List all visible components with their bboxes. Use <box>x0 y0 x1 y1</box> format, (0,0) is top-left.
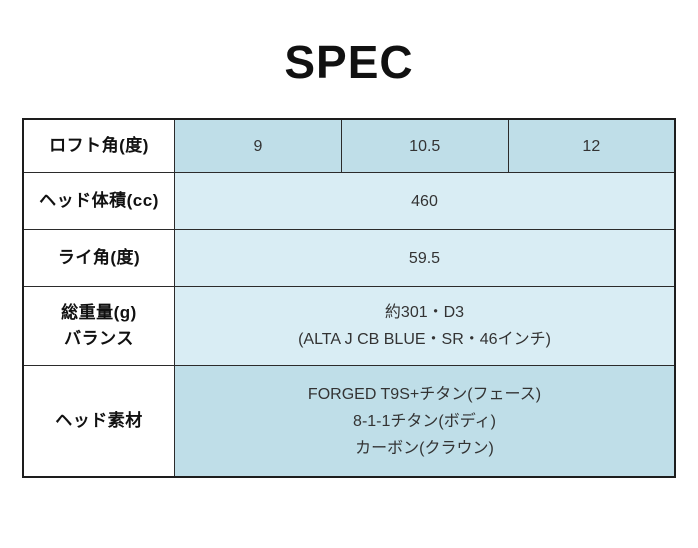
row-header-loft-angle-line-1: ロフト角(度) <box>24 133 174 159</box>
cell-head-material-line-2: 8-1-1チタン(ボディ) <box>175 408 674 435</box>
row-header-head-material-line-1: ヘッド素材 <box>24 408 174 434</box>
row-header-head-material: ヘッド素材 <box>23 366 175 478</box>
spec-table-container: ロフト角(度) 9 10.5 12 ヘッド体積(cc) 460 ライ角( <box>22 118 676 478</box>
cell-total-weight-line-1: 約301・D3 <box>175 299 674 326</box>
table-row-loft-angle: ロフト角(度) 9 10.5 12 <box>23 119 675 173</box>
spec-page: SPEC ロフト角(度) 9 10.5 12 ヘッド体積(cc) <box>0 0 698 548</box>
cell-head-material-value: FORGED T9S+チタン(フェース) 8-1-1チタン(ボディ) カーボン(… <box>175 366 676 478</box>
cell-lie-angle-value: 59.5 <box>175 230 676 287</box>
row-header-lie-angle-line-1: ライ角(度) <box>24 245 174 271</box>
cell-head-material-line-3: カーボン(クラウン) <box>175 435 674 462</box>
row-header-total-weight: 総重量(g) バランス <box>23 287 175 366</box>
cell-total-weight-value: 約301・D3 (ALTA J CB BLUE・SR・46インチ) <box>175 287 676 366</box>
row-header-head-volume: ヘッド体積(cc) <box>23 173 175 230</box>
page-title: SPEC <box>0 34 698 90</box>
table-row-total-weight: 総重量(g) バランス 約301・D3 (ALTA J CB BLUE・SR・4… <box>23 287 675 366</box>
spec-table: ロフト角(度) 9 10.5 12 ヘッド体積(cc) 460 ライ角( <box>22 118 676 478</box>
table-row-head-material: ヘッド素材 FORGED T9S+チタン(フェース) 8-1-1チタン(ボディ)… <box>23 366 675 478</box>
row-header-total-weight-line-1: 総重量(g) <box>24 300 174 326</box>
cell-total-weight-line-2: (ALTA J CB BLUE・SR・46インチ) <box>175 326 674 353</box>
row-header-total-weight-line-2: バランス <box>24 326 174 352</box>
cell-loft-12: 12 <box>508 119 675 173</box>
row-header-lie-angle: ライ角(度) <box>23 230 175 287</box>
cell-head-volume-value: 460 <box>175 173 676 230</box>
cell-loft-105: 10.5 <box>341 119 508 173</box>
cell-loft-9: 9 <box>175 119 342 173</box>
table-row-lie-angle: ライ角(度) 59.5 <box>23 230 675 287</box>
cell-head-material-line-1: FORGED T9S+チタン(フェース) <box>175 381 674 408</box>
table-row-head-volume: ヘッド体積(cc) 460 <box>23 173 675 230</box>
row-header-loft-angle: ロフト角(度) <box>23 119 175 173</box>
row-header-head-volume-line-1: ヘッド体積(cc) <box>24 188 174 214</box>
